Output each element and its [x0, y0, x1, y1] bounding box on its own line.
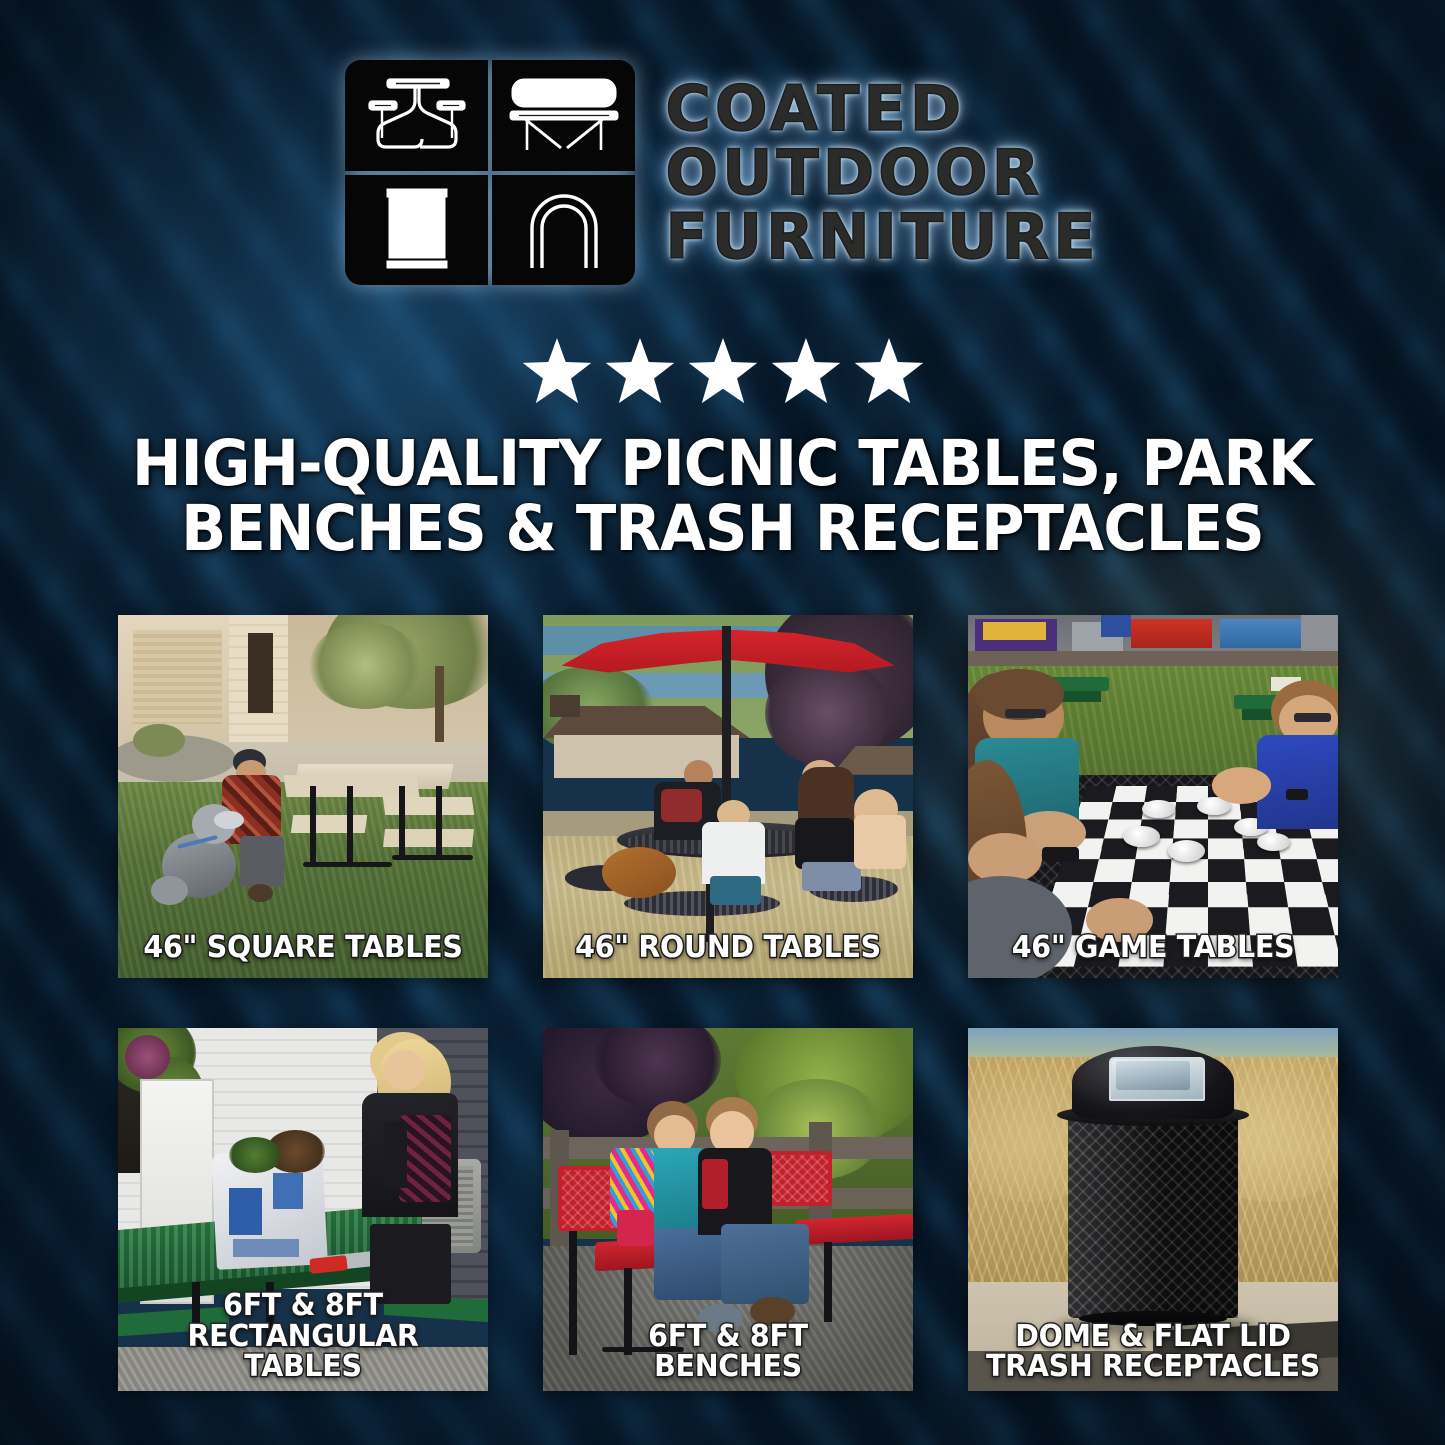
caption-line-1: 6FT & 8FT [552, 1322, 904, 1353]
product-photo-round-tables [543, 615, 913, 978]
brand-logo: COATED OUTDOOR FURNITURE [0, 60, 1445, 285]
product-caption-rectangular-tables: 6FT & 8FT RECTANGULAR TABLES [127, 1291, 479, 1383]
star-icon [687, 338, 759, 410]
picnic-table-icon [345, 60, 488, 171]
product-caption-trash-receptacles: DOME & FLAT LID TRASH RECEPTACLES [977, 1322, 1329, 1383]
bike-rack-icon [492, 175, 635, 286]
product-card-rectangular-tables[interactable]: 6FT & 8FT RECTANGULAR TABLES [118, 1028, 488, 1391]
caption-line-1: 46" ROUND TABLES [552, 933, 904, 964]
product-caption-square-tables: 46" SQUARE TABLES [127, 933, 479, 964]
product-card-trash-receptacles[interactable]: DOME & FLAT LID TRASH RECEPTACLES [968, 1028, 1338, 1391]
trash-receptacle-icon [345, 175, 488, 286]
caption-line-2: TRASH RECEPTACLES [977, 1352, 1329, 1383]
caption-line-1: 6FT & 8FT [127, 1291, 479, 1322]
caption-line-1: 46" SQUARE TABLES [127, 933, 479, 964]
product-card-benches[interactable]: 6FT & 8FT BENCHES [543, 1028, 913, 1391]
product-grid: 46" SQUARE TABLES [118, 615, 1328, 1391]
promotional-banner: COATED OUTDOOR FURNITURE HIGH-QUALITY PI… [0, 0, 1445, 1445]
product-card-game-tables[interactable]: 46" GAME TABLES [968, 615, 1338, 978]
product-photo-square-tables [118, 615, 488, 978]
logo-icon-grid [345, 60, 635, 285]
brand-name-line-3: FURNITURE [665, 206, 1099, 268]
product-caption-game-tables: 46" GAME TABLES [977, 933, 1329, 964]
star-icon [853, 338, 925, 410]
brand-name-line-2: OUTDOOR [665, 142, 1099, 204]
star-icon [770, 338, 842, 410]
star-icon [521, 338, 593, 410]
product-card-round-tables[interactable]: 46" ROUND TABLES [543, 615, 913, 978]
bench-side-icon [492, 60, 635, 171]
caption-line-1: DOME & FLAT LID [977, 1322, 1329, 1353]
brand-wordmark: COATED OUTDOOR FURNITURE [665, 78, 1099, 268]
headline-line-1: HIGH-QUALITY PICNIC TABLES, PARK [109, 432, 1336, 497]
caption-line-2: RECTANGULAR TABLES [127, 1322, 479, 1383]
star-icon [604, 338, 676, 410]
brand-name-line-1: COATED [665, 78, 1099, 140]
page-title: HIGH-QUALITY PICNIC TABLES, PARK BENCHES… [109, 432, 1336, 562]
product-photo-game-tables [968, 615, 1338, 978]
caption-line-1: 46" GAME TABLES [977, 933, 1329, 964]
headline-line-2: BENCHES & TRASH RECEPTACLES [109, 497, 1336, 562]
caption-line-2: BENCHES [552, 1352, 904, 1383]
product-card-square-tables[interactable]: 46" SQUARE TABLES [118, 615, 488, 978]
product-caption-benches: 6FT & 8FT BENCHES [552, 1322, 904, 1383]
star-rating [0, 338, 1445, 410]
product-caption-round-tables: 46" ROUND TABLES [552, 933, 904, 964]
